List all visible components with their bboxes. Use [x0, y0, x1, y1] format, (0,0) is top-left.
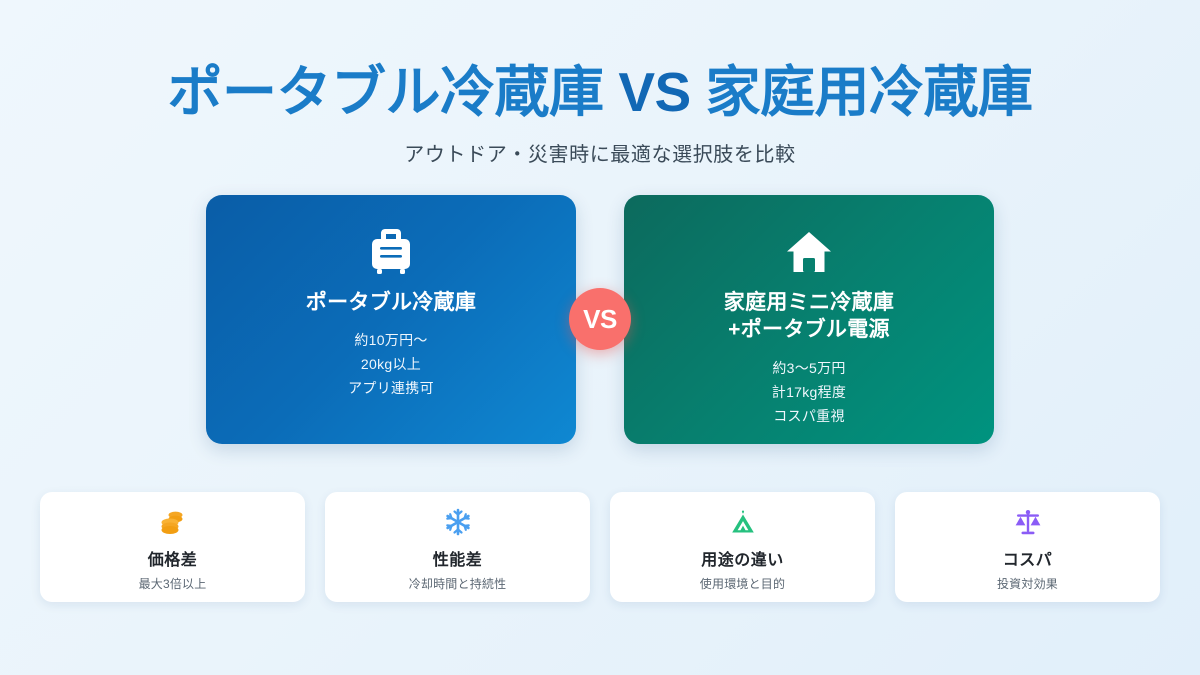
snowflake-icon: [443, 506, 473, 538]
feature-card-subtitle: 使用環境と目的: [700, 575, 785, 592]
scale-icon: [1013, 506, 1043, 538]
feature-card-price[interactable]: 価格差 最大3倍以上: [40, 492, 305, 602]
title-second-text: 家庭用冷蔵庫: [705, 61, 1032, 123]
title-main-text: ポータブル冷蔵庫: [168, 61, 604, 123]
feature-card-subtitle: 冷却時間と持続性: [409, 575, 507, 592]
feature-card-subtitle: 最大3倍以上: [139, 575, 207, 592]
comparison-row: ポータブル冷蔵庫 約10万円〜 20kg以上 アプリ連携可 VS 家庭用ミニ冷蔵…: [206, 195, 994, 444]
feature-card-performance[interactable]: 性能差 冷却時間と持続性: [325, 492, 590, 602]
comparison-card-specs: 約10万円〜 20kg以上 アプリ連携可: [206, 328, 576, 400]
feature-card-title: 性能差: [433, 546, 483, 570]
feature-card-title: コスパ: [1003, 546, 1053, 570]
comparison-card-specs: 約3〜5万円 計17kg程度 コスパ重視: [624, 356, 994, 428]
feature-card-subtitle: 投資対効果: [997, 575, 1058, 592]
suitcase-icon: [206, 229, 576, 275]
house-icon: [624, 229, 994, 275]
comparison-card-home[interactable]: 家庭用ミニ冷蔵庫 +ポータブル電源 約3〜5万円 計17kg程度 コスパ重視: [624, 195, 994, 444]
feature-card-row: 価格差 最大3倍以上 性能差 冷却時間と持続性: [40, 492, 1160, 602]
vs-badge: VS: [569, 288, 631, 350]
feature-card-title: 価格差: [148, 546, 198, 570]
comparison-card-title: ポータブル冷蔵庫: [206, 289, 576, 317]
title-vs-text: VS: [618, 61, 690, 123]
spec-line: 20kg以上: [206, 352, 576, 376]
feature-card-title: 用途の違い: [701, 546, 784, 570]
coins-icon: [158, 506, 188, 538]
page-title: ポータブル冷蔵庫 VS 家庭用冷蔵庫: [0, 62, 1200, 124]
page-header: ポータブル冷蔵庫 VS 家庭用冷蔵庫 アウトドア・災害時に最適な選択肢を比較: [0, 0, 1200, 167]
comparison-card-title-line1: 家庭用ミニ冷蔵庫: [624, 289, 994, 317]
page-subtitle: アウトドア・災害時に最適な選択肢を比較: [0, 138, 1200, 167]
spec-line: コスパ重視: [624, 404, 994, 428]
comparison-card-portable[interactable]: ポータブル冷蔵庫 約10万円〜 20kg以上 アプリ連携可: [206, 195, 576, 444]
spec-line: アプリ連携可: [206, 376, 576, 400]
spec-line: 約3〜5万円: [624, 356, 994, 380]
spec-line: 計17kg程度: [624, 380, 994, 404]
spec-line: 約10万円〜: [206, 328, 576, 352]
feature-card-cost-performance[interactable]: コスパ 投資対効果: [895, 492, 1160, 602]
tent-icon: [728, 506, 758, 538]
comparison-card-title-line2: +ポータブル電源: [624, 316, 994, 344]
comparison-card-title: 家庭用ミニ冷蔵庫 +ポータブル電源: [624, 289, 994, 344]
feature-card-usage[interactable]: 用途の違い 使用環境と目的: [610, 492, 875, 602]
